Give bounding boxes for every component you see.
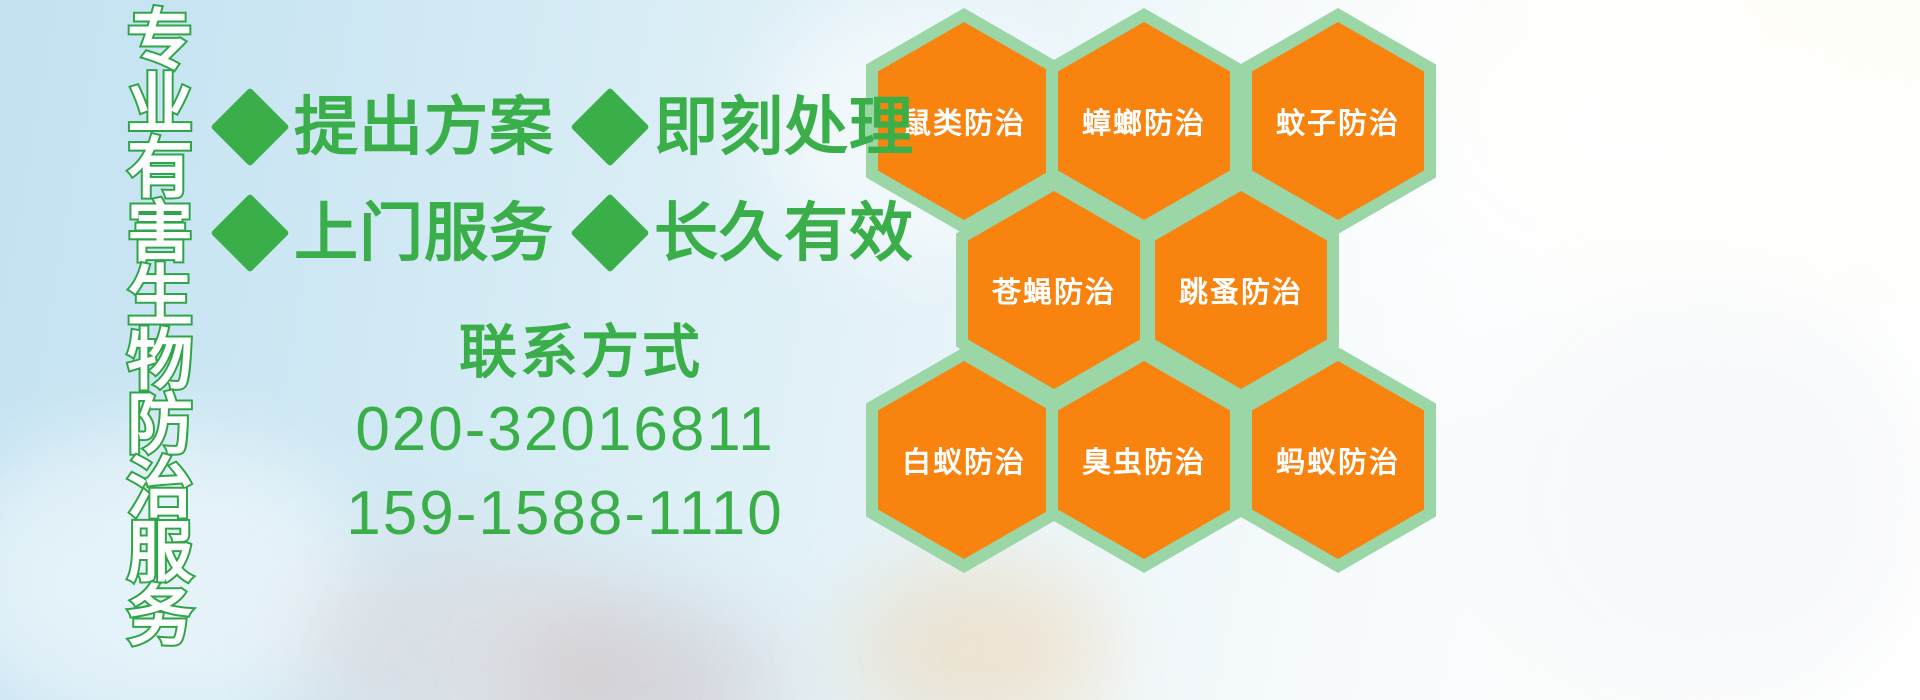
diamond-icon [210, 87, 289, 166]
service-label: 蚂蚁防治 [1276, 439, 1400, 481]
diamond-icon [570, 87, 649, 166]
service-hex-termite[interactable]: 白蚁防治 [866, 347, 1062, 573]
pest-control-banner: 专 业 有 害 生 物 防 治 服 务 提出方案 即刻处理 上门服务 长久有效 … [0, 0, 1920, 700]
vertical-slogan-char: 害 [127, 200, 193, 264]
contact-title: 联系方式 [292, 318, 870, 388]
feature-label: 提出方案 [294, 95, 554, 159]
vertical-slogan: 专 业 有 害 生 物 防 治 服 务 [112, 8, 208, 588]
vertical-slogan-char: 专 [127, 8, 193, 72]
diamond-icon [570, 193, 649, 272]
feature-list: 提出方案 即刻处理 上门服务 长久有效 [222, 74, 882, 286]
feature-row: 上门服务 长久有效 [222, 180, 882, 286]
vertical-slogan-char: 业 [127, 72, 193, 136]
vertical-slogan-char: 物 [127, 328, 193, 392]
service-label: 臭虫防治 [1082, 439, 1206, 481]
phone-landline[interactable]: 020-32016811 [260, 388, 870, 472]
phone-mobile[interactable]: 159-1588-1110 [260, 472, 870, 556]
feature-label: 上门服务 [294, 201, 554, 265]
service-hex-ant[interactable]: 蚂蚁防治 [1240, 347, 1436, 573]
service-label: 跳蚤防治 [1179, 269, 1303, 311]
vertical-slogan-char: 有 [127, 136, 193, 200]
vertical-slogan-char: 治 [127, 456, 193, 520]
service-label: 苍蝇防治 [992, 269, 1116, 311]
service-hex-bedbug[interactable]: 臭虫防治 [1046, 347, 1242, 573]
vertical-slogan-char: 防 [127, 392, 193, 456]
vertical-slogan-char: 生 [127, 264, 193, 328]
diamond-icon [210, 193, 289, 272]
service-label: 蟑螂防治 [1082, 100, 1206, 142]
feature-label: 长久有效 [654, 201, 914, 265]
feature-label: 即刻处理 [654, 95, 914, 159]
vertical-slogan-char: 务 [127, 584, 193, 648]
feature-row: 提出方案 即刻处理 [222, 74, 882, 180]
service-label: 白蚁防治 [902, 439, 1026, 481]
contact-block: 联系方式 020-32016811 159-1588-1110 [230, 318, 870, 556]
vertical-slogan-char: 服 [127, 520, 193, 584]
service-label: 鼠类防治 [902, 100, 1026, 142]
service-label: 蚊子防治 [1276, 100, 1400, 142]
